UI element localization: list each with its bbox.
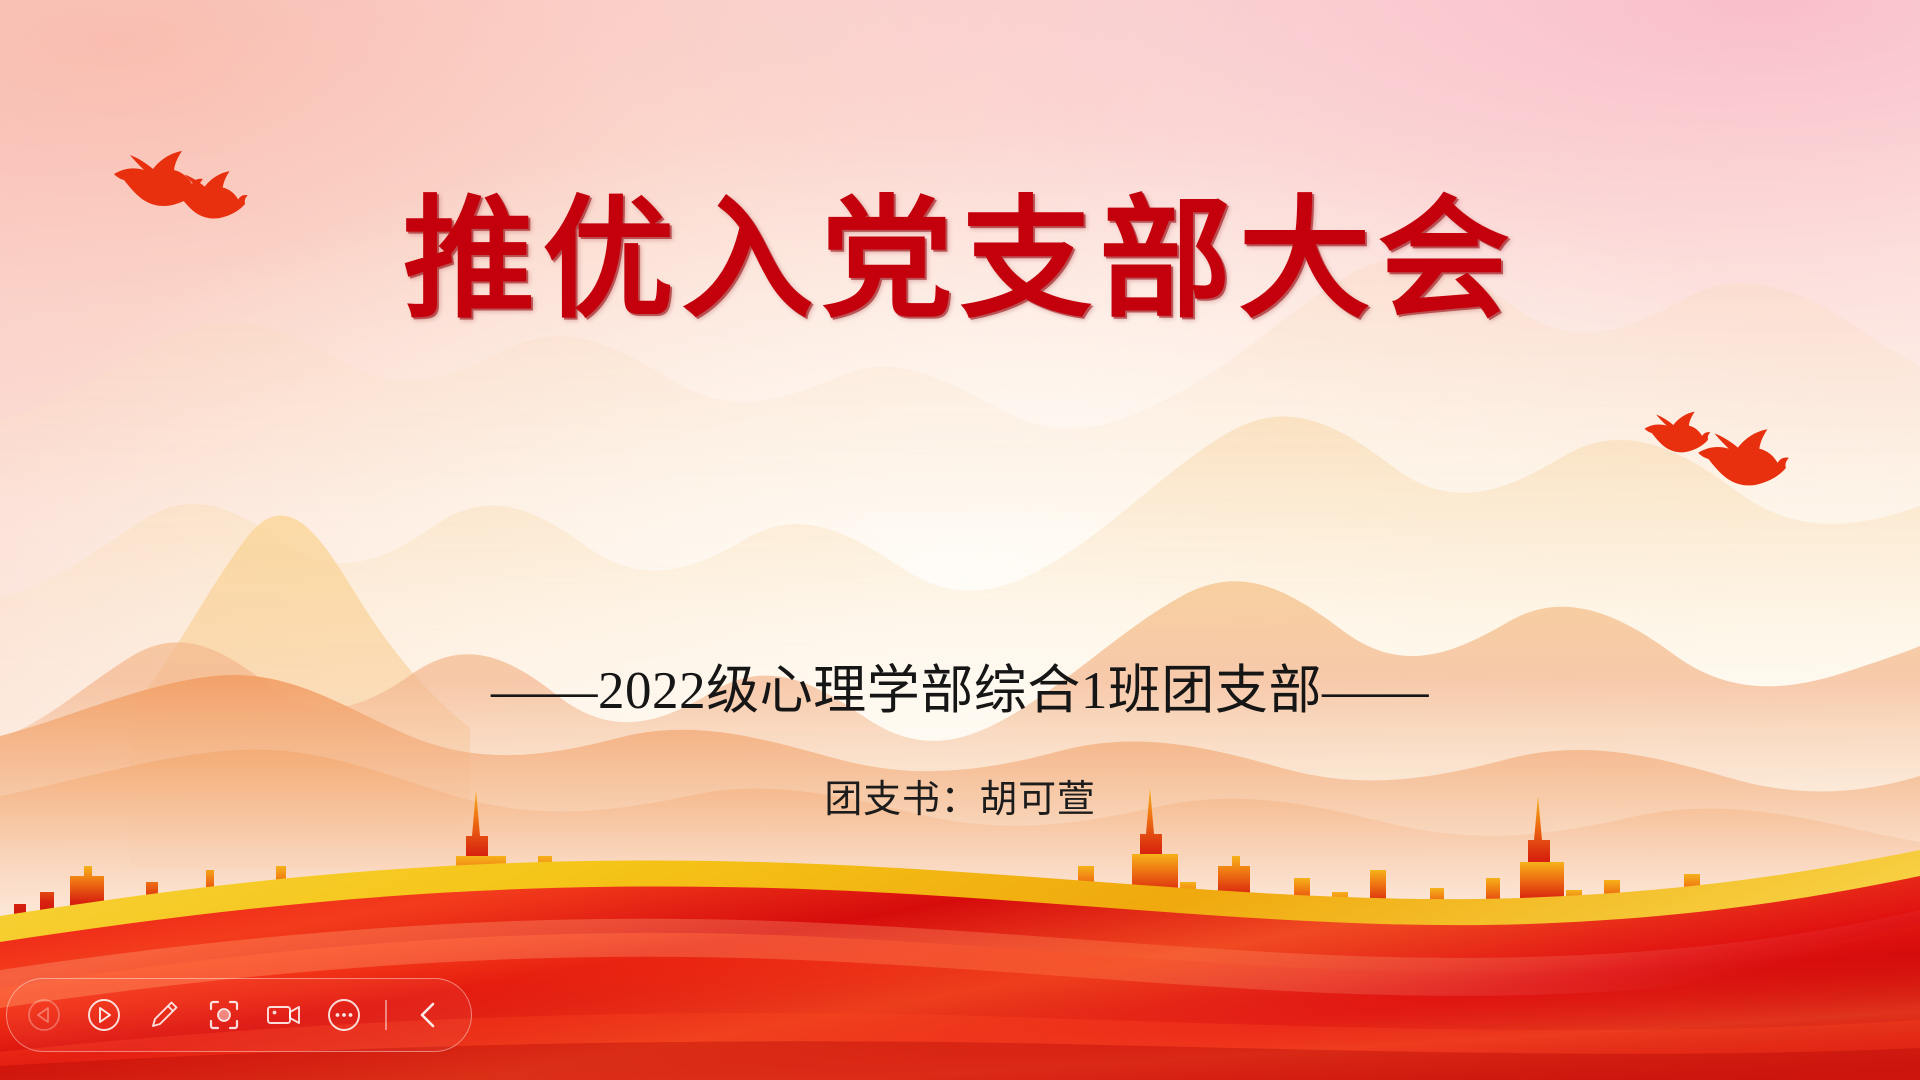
triangle-right-circle-icon — [87, 998, 121, 1032]
presenter-container: 团支书：胡可萱 — [0, 768, 1920, 823]
pen-icon — [146, 997, 182, 1033]
page-title: 推优入党支部大会 — [0, 190, 1920, 333]
previous-slide-button[interactable] — [17, 988, 71, 1042]
dove-pair-right — [1640, 400, 1790, 500]
triangle-left-circle-icon — [27, 998, 61, 1032]
subtitle-text: ——2022级心理学部综合1班团支部—— — [0, 648, 1920, 724]
record-button[interactable] — [257, 988, 311, 1042]
toolbar-divider — [385, 1000, 387, 1030]
title-container: 推优入党支部大会 — [0, 190, 1920, 333]
presentation-slide: 推优入党支部大会 ——2022级心理学部综合1班团支部—— 团支书：胡可萱 — [0, 0, 1920, 1080]
ellipsis-circle-icon — [327, 998, 361, 1032]
collapse-toolbar-button[interactable] — [401, 988, 455, 1042]
chevron-left-icon — [413, 999, 443, 1031]
play-slide-button[interactable] — [77, 988, 131, 1042]
subtitle-container: ——2022级心理学部综合1班团支部—— — [0, 648, 1920, 724]
video-camera-icon — [265, 1000, 303, 1030]
presentation-toolbar[interactable] — [6, 978, 472, 1052]
focus-frame-icon — [206, 997, 242, 1033]
presenter-text: 团支书：胡可萱 — [0, 768, 1920, 823]
laser-pointer-button[interactable] — [197, 988, 251, 1042]
dove-icon — [1698, 429, 1789, 485]
dove-icon — [1644, 412, 1710, 453]
pen-tool-button[interactable] — [137, 988, 191, 1042]
more-options-button[interactable] — [317, 988, 371, 1042]
